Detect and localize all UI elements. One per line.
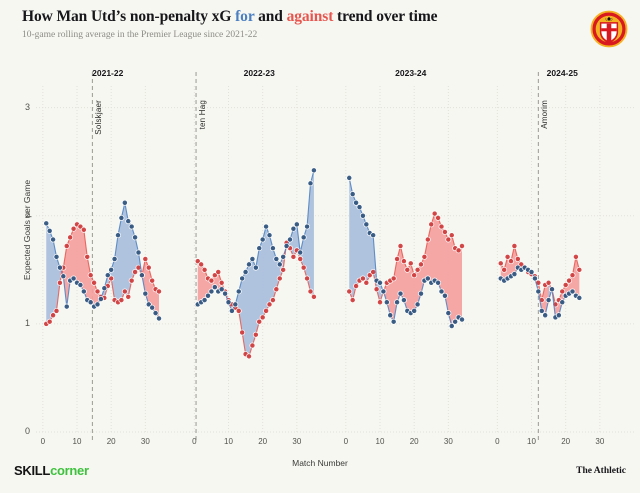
- x-axis-tick: 10: [370, 437, 390, 446]
- chart-header: How Man Utd’s non-penalty xG for and aga…: [22, 8, 582, 40]
- facet-title-2022-23: 2022-23: [199, 68, 319, 78]
- facet-title-2024-25: 2024-25: [502, 68, 622, 78]
- x-axis-tick: 20: [101, 437, 121, 446]
- y-axis-tick: 0: [12, 426, 30, 436]
- x-axis-tick: 30: [590, 437, 610, 446]
- page-title: How Man Utd’s non-penalty xG for and aga…: [22, 8, 582, 26]
- y-axis-tick: 3: [12, 102, 30, 112]
- manager-marker-label: ten Hag: [198, 100, 207, 129]
- x-axis-tick: 30: [135, 437, 155, 446]
- x-axis-tick: 0: [184, 437, 204, 446]
- manager-marker-label: Solskjaer: [94, 100, 103, 135]
- x-axis-tick: 0: [487, 437, 507, 446]
- x-axis-tick: 0: [33, 437, 53, 446]
- chart-root: How Man Utd’s non-penalty xG for and aga…: [0, 0, 640, 493]
- x-axis-label: Match Number: [0, 458, 640, 468]
- facet-title-2021-22: 2021-22: [48, 68, 168, 78]
- title-text-3: trend over time: [333, 8, 437, 25]
- x-axis-tick: 0: [336, 437, 356, 446]
- x-axis-tick: 30: [438, 437, 458, 446]
- x-axis-tick: 30: [287, 437, 307, 446]
- x-axis-tick: 10: [67, 437, 87, 446]
- title-for-word: for: [235, 8, 254, 25]
- chart-subtitle: 10-game rolling average in the Premier L…: [22, 30, 582, 40]
- x-axis-tick: 10: [522, 437, 542, 446]
- title-against-word: against: [287, 8, 334, 25]
- svg-text:UTD: UTD: [605, 17, 613, 21]
- title-text-1: How Man Utd’s non-penalty xG: [22, 8, 235, 25]
- y-axis-label: Expected Goals per Game: [22, 170, 32, 290]
- x-axis-tick: 20: [253, 437, 273, 446]
- y-axis-tick: 1: [12, 318, 30, 328]
- y-axis-tick: 2: [12, 210, 30, 220]
- x-axis-tick: 20: [556, 437, 576, 446]
- x-axis-tick: 10: [219, 437, 239, 446]
- facet-title-2023-24: 2023-24: [351, 68, 471, 78]
- manager-marker-label: Amorim: [540, 100, 549, 129]
- title-text-2: and: [254, 8, 286, 25]
- x-axis-tick: 20: [404, 437, 424, 446]
- man-utd-crest-icon: UTD: [590, 10, 628, 48]
